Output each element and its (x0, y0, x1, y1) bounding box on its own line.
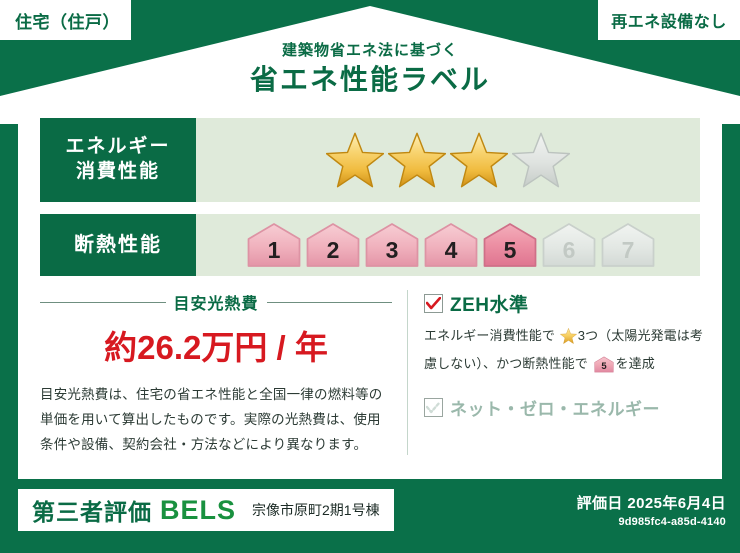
tag-building-type: 住宅（住戸） (0, 0, 131, 40)
house-icon-empty: 7 (600, 222, 656, 268)
zeh-desc-part1: エネルギー消費性能で (424, 328, 555, 343)
star-icon-filled (326, 132, 384, 188)
zeh-checkbox[interactable] (424, 294, 443, 313)
building-name: 宗像市原町2期1号棟 (252, 500, 380, 520)
panel-divider (407, 290, 408, 455)
star-icon-inline (556, 332, 577, 347)
footer-bels-plate: 第三者評価 BELS 宗像市原町2期1号棟 (18, 489, 394, 531)
zeh-desc-part3: を達成 (616, 356, 655, 371)
star-icon-empty (512, 132, 570, 188)
net-zero-energy-row: ネット・ゼロ・エネルギー (424, 395, 714, 420)
house-icon-filled: 1 (246, 222, 302, 268)
page-subtitle: 建築物省エネ法に基づく (0, 42, 740, 61)
svg-text:4: 4 (445, 237, 458, 263)
utility-cost-heading: 目安光熱費 (40, 290, 392, 314)
evaluation-date-label: 評価日 (577, 495, 623, 512)
energy-label-line2: 消費性能 (76, 160, 160, 185)
page-title: 建築物省エネ法に基づく 省エネ性能ラベル (0, 42, 740, 97)
evaluation-date: 評価日 2025年6月4日 (577, 492, 726, 513)
utility-cost-note: 目安光熱費は、住宅の省エネ性能と全国一律の燃料等の単価を用いて算出したものです。… (40, 383, 392, 458)
utility-cost-heading-text: 目安光熱費 (174, 290, 259, 314)
house-icon-filled: 2 (305, 222, 361, 268)
energy-performance-row: エネルギー 消費性能 (40, 118, 700, 202)
footer-evaluation-info: 評価日 2025年6月4日 9d985fc4-a85d-4140 (577, 492, 726, 528)
zeh-check-row: ZEH水準 (424, 290, 714, 317)
svg-text:5: 5 (601, 361, 606, 372)
house-icon-filled: 5 (482, 222, 538, 268)
insulation-performance-label: 断熱性能 (40, 214, 196, 276)
svg-text:6: 6 (563, 237, 576, 263)
svg-text:3: 3 (386, 237, 399, 263)
insulation-performance-row: 断熱性能 1234567 (40, 214, 700, 276)
net-zero-energy-checkbox[interactable] (424, 398, 443, 417)
star-icon-filled (450, 132, 508, 188)
bels-energy-label: 住宅（住戸） 再エネ設備なし 建築物省エネ法に基づく 省エネ性能ラベル エネルギ… (0, 0, 740, 553)
insulation-level-scale: 1234567 (196, 214, 700, 276)
page-title-main: 省エネ性能ラベル (0, 62, 740, 97)
evaluation-date-value: 2025年6月4日 (627, 495, 726, 512)
bels-logo: BELS (160, 495, 236, 526)
svg-text:7: 7 (622, 237, 635, 263)
record-id: 9d985fc4-a85d-4140 (577, 516, 726, 528)
net-zero-energy-title: ネット・ゼロ・エネルギー (450, 395, 660, 420)
zeh-description: エネルギー消費性能で 3つ（太陽光発電は考慮しない）、かつ断熱性能で (424, 324, 714, 381)
energy-label-line1: エネルギー (65, 135, 170, 160)
star-icon-filled (388, 132, 446, 188)
tag-renewable-equipment: 再エネ設備なし (598, 0, 740, 40)
heading-rule-right (267, 302, 393, 303)
house-icon-empty: 6 (541, 222, 597, 268)
house-icon-filled: 4 (423, 222, 479, 268)
svg-text:2: 2 (327, 237, 340, 263)
utility-cost-amount: 約26.2万円 / 年 (40, 321, 392, 369)
house-icon-filled: 3 (364, 222, 420, 268)
zeh-title: ZEH水準 (450, 290, 529, 317)
main-panel: エネルギー 消費性能 断熱性能 1234567 目安光熱費 約26.2万円 / … (18, 104, 722, 479)
zeh-section: ZEH水準 エネルギー消費性能で 3つ（太陽光発電は考慮しない）、かつ断熱 (424, 290, 714, 420)
energy-performance-label: エネルギー 消費性能 (40, 118, 196, 202)
star-rating (196, 118, 700, 202)
svg-text:1: 1 (268, 237, 281, 263)
third-party-evaluation-label: 第三者評価 (32, 493, 152, 527)
house-icon-inline: 5 (590, 361, 614, 376)
heading-rule-left (40, 302, 166, 303)
utility-cost-section: 目安光熱費 約26.2万円 / 年 目安光熱費は、住宅の省エネ性能と全国一律の燃… (40, 290, 392, 458)
svg-text:5: 5 (504, 237, 517, 263)
